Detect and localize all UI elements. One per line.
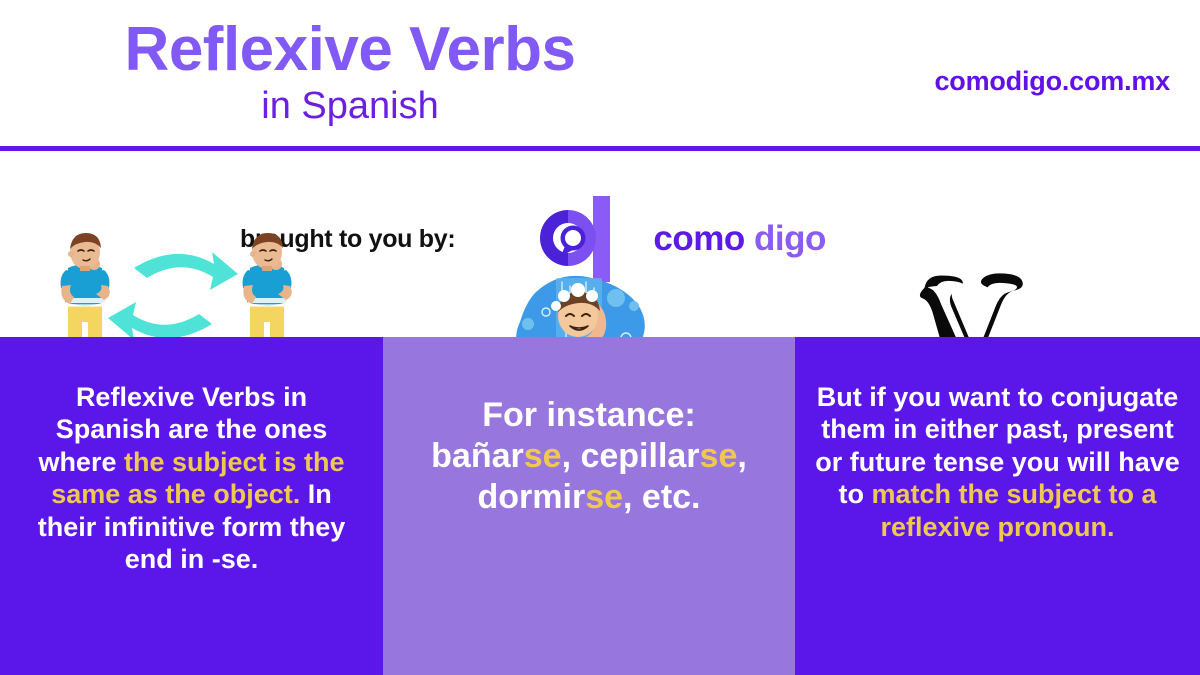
site-url: comodigo.com.mx: [934, 66, 1170, 97]
panel-definition-text: Reflexive Verbs in Spanish are the ones …: [0, 381, 383, 575]
highlighted-text: se: [524, 437, 562, 475]
panel-conjugation: But if you want to conjugate them in eit…: [795, 337, 1200, 675]
title-block: Reflexive Verbs in Spanish: [0, 18, 700, 125]
page-subtitle: in Spanish: [0, 87, 700, 125]
infographic-canvas: Reflexive Verbs in Spanish comodigo.com.…: [0, 0, 1200, 675]
wordmark-digo: digo: [754, 219, 826, 258]
panel-definition: Reflexive Verbs in Spanish are the ones …: [0, 337, 383, 675]
page-title: Reflexive Verbs: [0, 18, 700, 81]
panel-examples-text: For instance: bañarse, cepillarse, dormi…: [383, 395, 795, 517]
panels-row: Reflexive Verbs in Spanish are the ones …: [0, 337, 1200, 675]
body-text: , cepillar: [562, 437, 700, 475]
highlighted-text: se: [700, 437, 738, 475]
header: Reflexive Verbs in Spanish comodigo.com.…: [0, 0, 1200, 148]
brand-row: brought to you by: como digo: [240, 196, 826, 282]
highlighted-text: match the subject to a reflexive pronoun…: [871, 479, 1156, 541]
wordmark-como: como: [653, 219, 744, 258]
highlighted-text: se: [585, 478, 623, 516]
panel-examples: For instance: bañarse, cepillarse, dormi…: [383, 337, 795, 675]
panel-conjugation-text: But if you want to conjugate them in eit…: [795, 381, 1200, 543]
body-text: , etc.: [623, 478, 700, 516]
header-divider: [0, 146, 1200, 151]
comodigo-wordmark: como digo: [653, 219, 825, 259]
comodigo-d-logo-icon: [535, 196, 613, 282]
